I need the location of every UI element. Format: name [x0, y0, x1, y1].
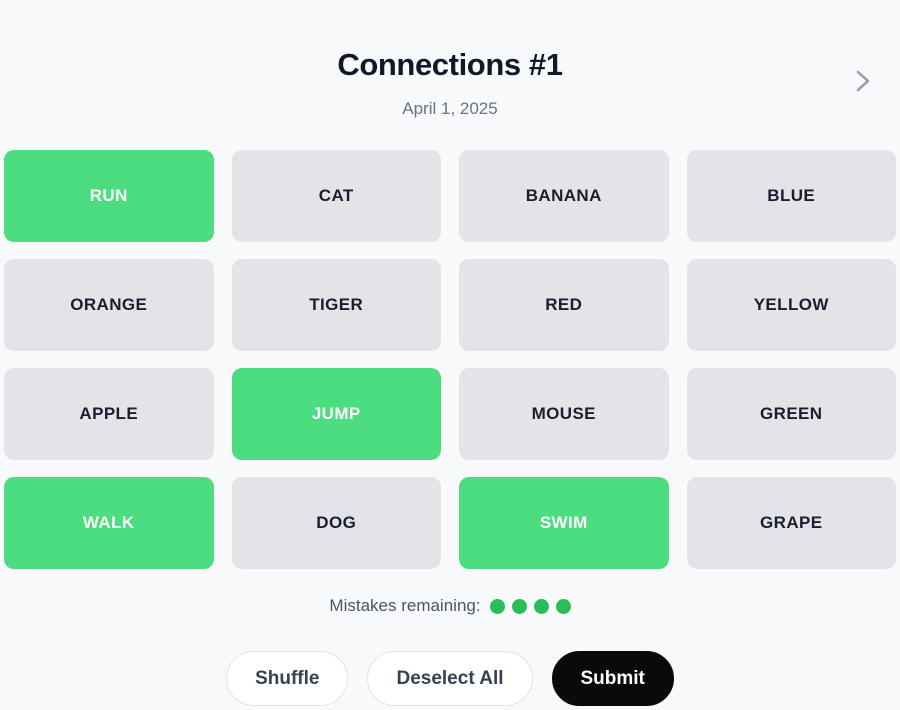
word-tile[interactable]: MOUSE — [459, 368, 669, 460]
deselect-all-button[interactable]: Deselect All — [367, 651, 532, 706]
word-tile[interactable]: APPLE — [4, 368, 214, 460]
word-tile[interactable]: BANANA — [459, 150, 669, 242]
word-tile[interactable]: RUN — [4, 150, 214, 242]
mistakes-dots — [490, 599, 571, 614]
word-tile[interactable]: JUMP — [232, 368, 442, 460]
connections-game: Connections #1 April 1, 2025 RUNCATBANAN… — [0, 0, 900, 710]
word-tile[interactable]: YELLOW — [687, 259, 897, 351]
next-puzzle-button[interactable] — [844, 62, 882, 100]
mistakes-remaining: Mistakes remaining: — [0, 594, 900, 618]
shuffle-button[interactable]: Shuffle — [226, 651, 348, 706]
mistake-dot — [490, 599, 505, 614]
puzzle-date: April 1, 2025 — [0, 97, 900, 121]
word-tile[interactable]: SWIM — [459, 477, 669, 569]
action-bar: Shuffle Deselect All Submit — [0, 651, 900, 706]
word-tile[interactable]: TIGER — [232, 259, 442, 351]
mistake-dot — [556, 599, 571, 614]
mistake-dot — [512, 599, 527, 614]
page-title: Connections #1 — [0, 45, 900, 85]
game-header: Connections #1 April 1, 2025 — [0, 0, 900, 140]
word-tile[interactable]: GRAPE — [687, 477, 897, 569]
submit-button[interactable]: Submit — [552, 651, 674, 706]
chevron-right-icon — [853, 67, 873, 95]
word-tile[interactable]: GREEN — [687, 368, 897, 460]
word-tile[interactable]: WALK — [4, 477, 214, 569]
word-tile[interactable]: BLUE — [687, 150, 897, 242]
word-tile[interactable]: CAT — [232, 150, 442, 242]
mistakes-label: Mistakes remaining: — [329, 594, 480, 618]
word-grid: RUNCATBANANABLUEORANGETIGERREDYELLOWAPPL… — [4, 150, 896, 569]
mistake-dot — [534, 599, 549, 614]
word-tile[interactable]: DOG — [232, 477, 442, 569]
word-tile[interactable]: ORANGE — [4, 259, 214, 351]
word-tile[interactable]: RED — [459, 259, 669, 351]
